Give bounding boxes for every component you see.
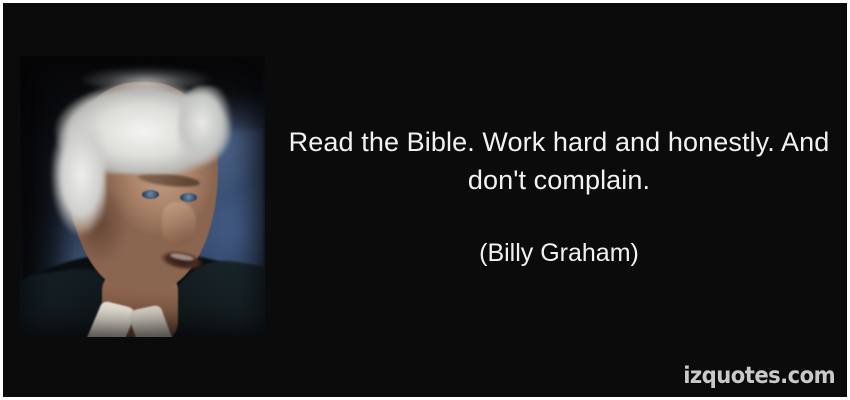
quote-author: (Billy Graham) — [279, 199, 839, 269]
portrait-photo — [20, 56, 265, 337]
quote-text: Read the Bible. Work hard and honestly. … — [279, 123, 839, 199]
hair-left-side — [44, 114, 106, 246]
hair-right — [178, 86, 244, 178]
watermark-izquotes[interactable]: izquotes.com — [683, 363, 835, 389]
quote-card: Read the Bible. Work hard and honestly. … — [0, 0, 850, 400]
quote-text-block: Read the Bible. Work hard and honestly. … — [279, 123, 839, 269]
eye-right — [180, 193, 197, 202]
eye-left — [142, 190, 159, 199]
hair-wisps — [76, 56, 216, 92]
